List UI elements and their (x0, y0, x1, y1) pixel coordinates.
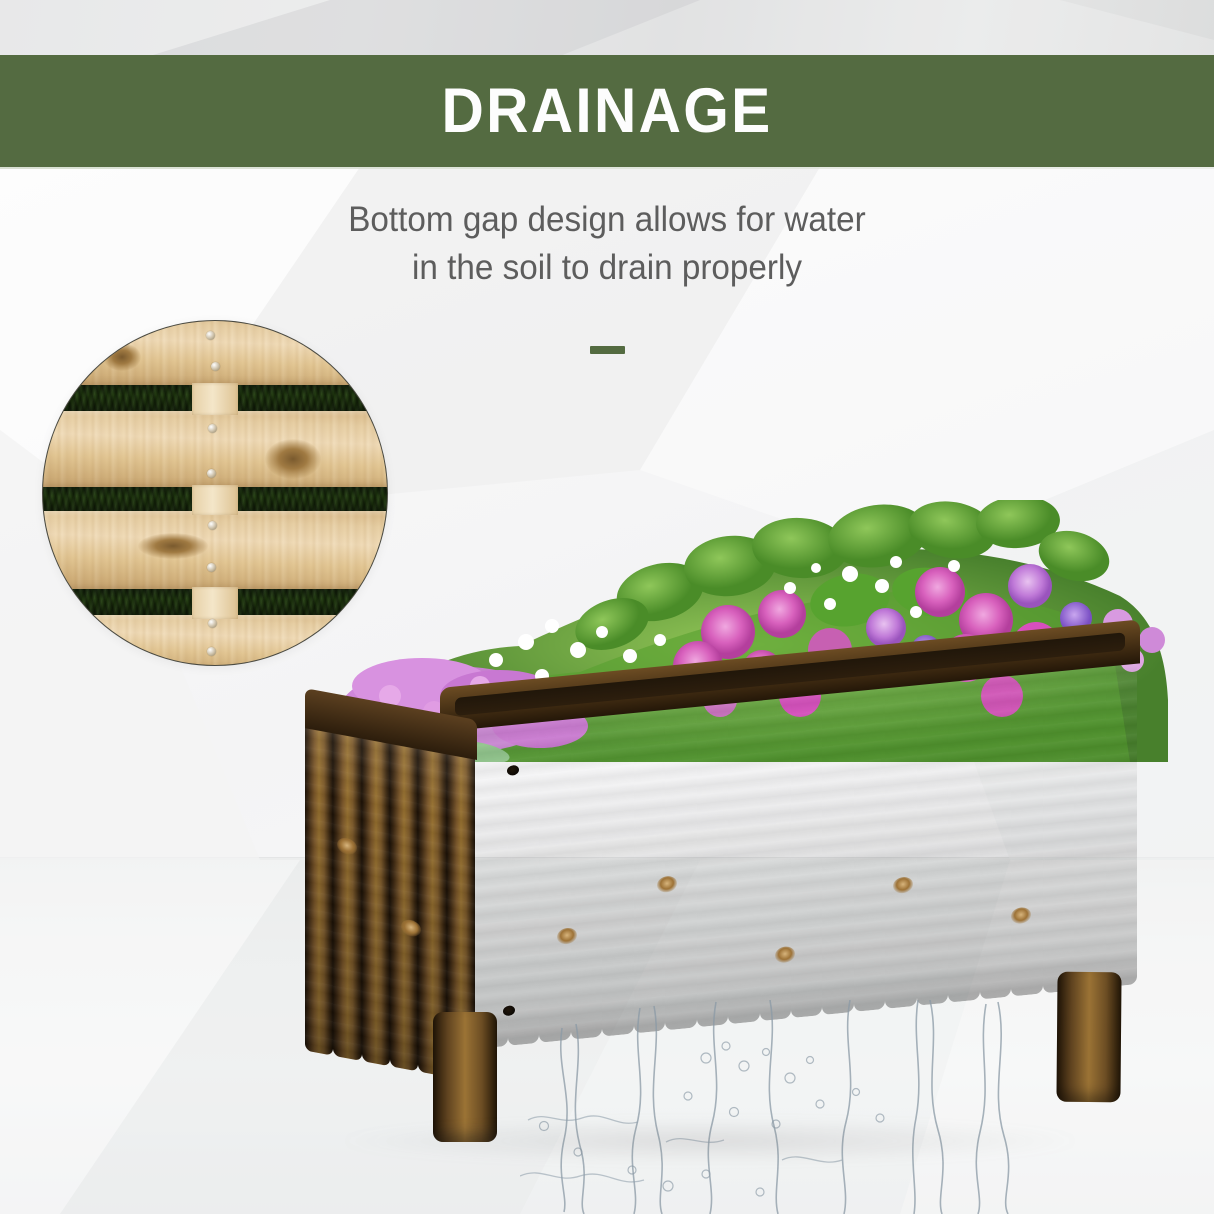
screw-icon (208, 424, 217, 433)
wood-stave (697, 684, 728, 1027)
wood-stave (539, 700, 570, 1043)
wood-stave (760, 678, 791, 1021)
wood-stave (305, 710, 333, 1055)
wood-stave (854, 669, 885, 1012)
wood-stave (390, 726, 418, 1071)
support-strip (192, 587, 238, 619)
wood-stave (917, 663, 948, 1006)
wood-stave (980, 656, 1011, 999)
screw-icon (207, 563, 216, 572)
wood-slat (42, 411, 388, 489)
screw-icon (206, 331, 215, 340)
wood-stave (362, 721, 390, 1066)
wood-knot (265, 439, 321, 479)
ground-shadow (330, 1120, 1090, 1162)
wood-stave (476, 706, 507, 1049)
subtitle: Bottom gap design allows for water in th… (30, 196, 1183, 293)
support-strip (192, 383, 238, 415)
product-feature-image: DRAINAGE Bottom gap design allows for wa… (0, 0, 1214, 1214)
wood-stave (791, 675, 822, 1018)
wood-stave (885, 666, 916, 1009)
green-dash-divider (590, 346, 625, 354)
subtitle-line-1: Bottom gap design allows for water (30, 196, 1183, 244)
wood-stave (1043, 650, 1074, 993)
wood-stave (333, 716, 361, 1061)
page-title: DRAINAGE (441, 80, 772, 143)
wood-knot (103, 343, 141, 371)
wood-stave (602, 693, 633, 1036)
subtitle-line-2: in the soil to drain properly (30, 244, 1183, 292)
wood-stave (1106, 644, 1137, 987)
wood-stave (634, 690, 665, 1033)
banner: DRAINAGE (0, 55, 1214, 167)
draining-water (520, 1000, 1160, 1214)
wood-stave (728, 681, 759, 1024)
wood-knot (138, 533, 208, 559)
wood-stave (508, 703, 539, 1046)
wood-stave (822, 672, 853, 1015)
screw-icon (211, 362, 220, 371)
water-streams (520, 1000, 1160, 1214)
wood-stave (948, 660, 979, 1003)
screw-icon (207, 469, 216, 478)
wood-slat (42, 320, 388, 387)
wood-stave (665, 687, 696, 1030)
screw-icon (208, 619, 217, 628)
background-top-band (0, 0, 1214, 56)
screw-icon (207, 647, 216, 656)
wood-stave (1074, 647, 1105, 990)
wood-stave (1011, 653, 1042, 996)
banner-bottom-edge (0, 167, 1214, 169)
screw-icon (208, 521, 217, 530)
support-strip (192, 485, 238, 515)
wood-stave (571, 697, 602, 1040)
